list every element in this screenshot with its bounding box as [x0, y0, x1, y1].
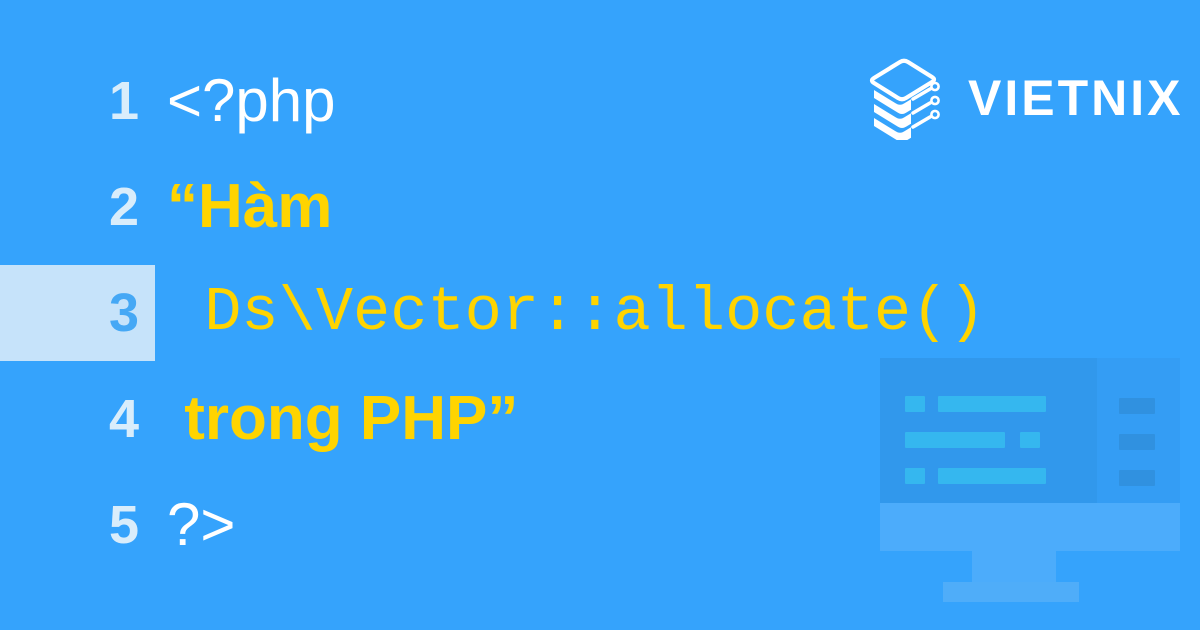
code-gutter: 4 — [0, 371, 155, 467]
code-line-active: 3 Ds\Vector::allocate() — [0, 260, 1200, 366]
line-number: 5 — [109, 498, 139, 552]
monitor-base — [943, 582, 1079, 602]
code-line: 1 <?php — [0, 48, 1200, 154]
code-line-text: Ds\Vector::allocate() — [155, 282, 986, 344]
code-gutter-active: 3 — [0, 265, 155, 361]
code-line-text: “Hàm — [155, 176, 332, 238]
code-line-text: <?php — [155, 71, 336, 131]
banner-canvas: VIETNIX 1 <?php 2 “Hàm 3 Ds\Vector::allo… — [0, 0, 1200, 630]
code-gutter: 1 — [0, 53, 155, 149]
code-line-text: trong PHP” — [155, 388, 518, 450]
code-block: 1 <?php 2 “Hàm 3 Ds\Vector::allocate() 4… — [0, 48, 1200, 578]
code-line: 2 “Hàm — [0, 154, 1200, 260]
code-line-text: ?> — [155, 495, 235, 555]
line-number: 1 — [109, 74, 139, 128]
line-number: 3 — [109, 286, 139, 340]
code-line: 4 trong PHP” — [0, 366, 1200, 472]
line-number: 2 — [109, 180, 139, 234]
code-line: 5 ?> — [0, 472, 1200, 578]
code-gutter: 2 — [0, 159, 155, 255]
line-number: 4 — [109, 392, 139, 446]
code-gutter: 5 — [0, 477, 155, 573]
